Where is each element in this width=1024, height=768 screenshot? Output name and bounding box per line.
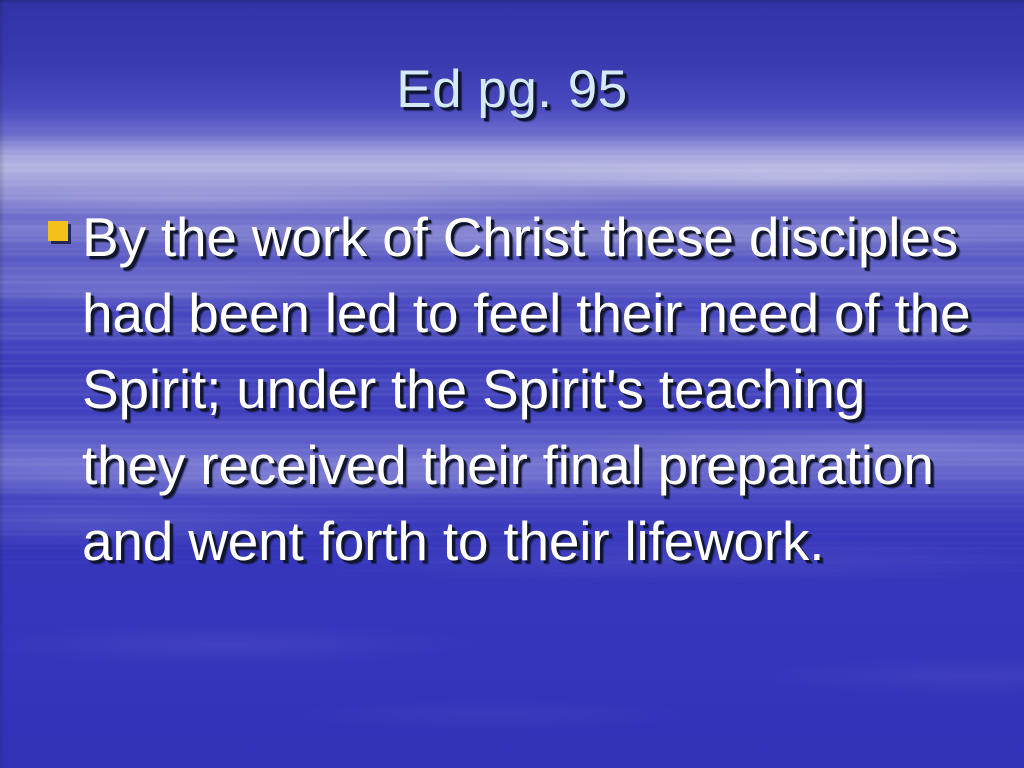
bullet-item-text: By the work of Christ these disciples ha… [82,199,978,579]
bullet-list-item: By the work of Christ these disciples ha… [48,199,978,579]
slide-title-placeholder: Ed pg. 95 [0,62,1024,118]
page-title: Ed pg. 95 [396,62,627,118]
slide-body-placeholder: By the work of Christ these disciples ha… [48,199,978,579]
presentation-slide: Ed pg. 95 By the work of Christ these di… [0,0,1024,768]
square-bullet-icon [48,221,68,241]
